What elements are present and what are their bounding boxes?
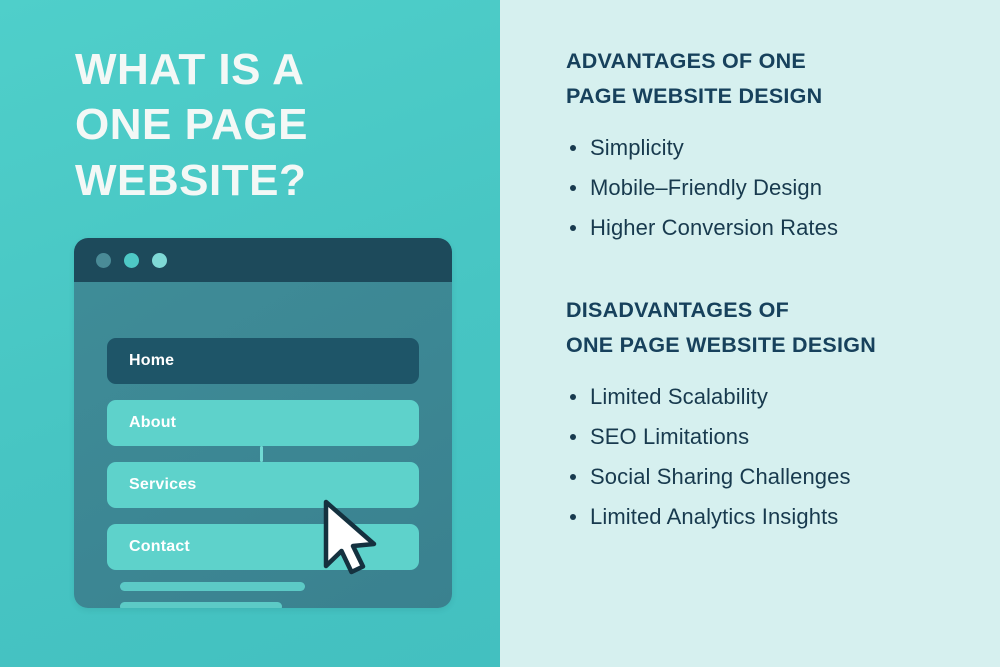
list-item-label: Limited Analytics Insights xyxy=(590,504,838,529)
infographic-canvas: What is a one page website? Home About S… xyxy=(0,0,1000,667)
nav-item-contact[interactable]: Contact xyxy=(107,524,419,570)
nav-item-label: Services xyxy=(129,476,196,494)
section-disadvantages: Disadvantages of one page website design… xyxy=(566,293,978,537)
nav-item-label: About xyxy=(129,414,176,432)
section-advantages: Advantages of one page website design Si… xyxy=(566,44,978,248)
nav-item-services[interactable]: Services xyxy=(107,462,419,508)
nav-item-about[interactable]: About xyxy=(107,400,419,446)
page-title: What is a one page website? xyxy=(75,42,475,208)
disadvantages-list: Limited Scalability SEO Limitations Soci… xyxy=(566,377,978,537)
content-placeholder-line xyxy=(120,582,305,591)
advantages-list: Simplicity Mobile–Friendly Design Higher… xyxy=(566,128,978,248)
browser-titlebar xyxy=(74,238,452,282)
section-heading-advantages: Advantages of one page website design xyxy=(566,44,978,114)
nav-connector-line xyxy=(260,446,263,462)
nav-item-label: Home xyxy=(129,352,174,370)
right-panel: Advantages of one page website design Si… xyxy=(500,0,1000,667)
bullet-dot-icon xyxy=(570,394,576,400)
list-item: Social Sharing Challenges xyxy=(566,457,978,497)
nav-item-label: Contact xyxy=(129,538,190,556)
bullet-dot-icon xyxy=(570,514,576,520)
nav-item-home[interactable]: Home xyxy=(107,338,419,384)
section-heading-disadvantages: Disadvantages of one page website design xyxy=(566,293,978,363)
browser-window-mockup: Home About Services Contact xyxy=(74,238,452,608)
bullet-dot-icon xyxy=(570,185,576,191)
list-item-label: Mobile–Friendly Design xyxy=(590,175,822,200)
list-item: Limited Analytics Insights xyxy=(566,497,978,537)
list-item: SEO Limitations xyxy=(566,417,978,457)
bullet-dot-icon xyxy=(570,434,576,440)
list-item-label: Higher Conversion Rates xyxy=(590,215,838,240)
left-panel: What is a one page website? Home About S… xyxy=(0,0,500,667)
list-item-label: Social Sharing Challenges xyxy=(590,464,851,489)
bullet-dot-icon xyxy=(570,474,576,480)
list-item: Mobile–Friendly Design xyxy=(566,168,978,208)
list-item: Limited Scalability xyxy=(566,377,978,417)
content-placeholder-line xyxy=(120,602,282,608)
bullet-dot-icon xyxy=(570,145,576,151)
list-item-label: Limited Scalability xyxy=(590,384,768,409)
list-item: Simplicity xyxy=(566,128,978,168)
window-dot-close-icon xyxy=(96,253,111,268)
window-dot-maximize-icon xyxy=(152,253,167,268)
window-dot-minimize-icon xyxy=(124,253,139,268)
list-item: Higher Conversion Rates xyxy=(566,208,978,248)
list-item-label: SEO Limitations xyxy=(590,424,749,449)
bullet-dot-icon xyxy=(570,225,576,231)
list-item-label: Simplicity xyxy=(590,135,684,160)
browser-body: Home About Services Contact xyxy=(74,282,452,608)
